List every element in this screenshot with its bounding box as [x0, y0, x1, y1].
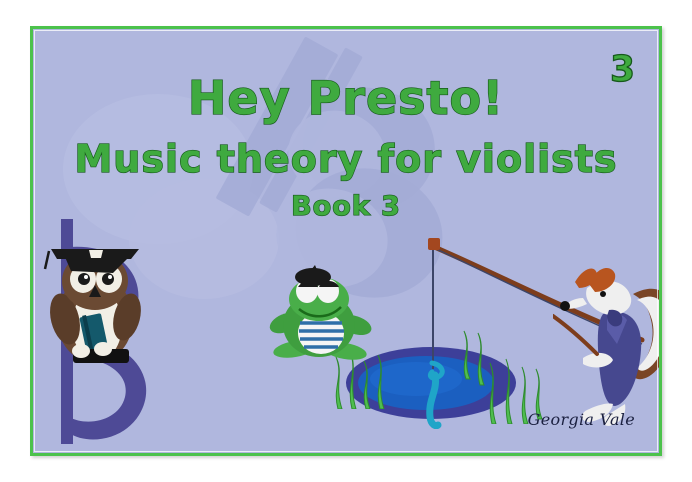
cover-book-label: Book 3: [33, 191, 659, 222]
cover-subtitle: Music theory for violists: [33, 137, 659, 181]
cover-title: Hey Presto!: [33, 71, 659, 125]
book-number-badge: 3: [610, 49, 635, 90]
fox-with-fishing-rod: [553, 254, 662, 429]
book-cover: Hey Presto! Music theory for violists Bo…: [30, 26, 662, 456]
music-note-on-hook-icon: [408, 359, 458, 429]
owl-in-graduation-cap: [43, 229, 148, 379]
frog-in-beret: [265, 265, 373, 365]
author-name: Georgia Vale: [528, 410, 635, 429]
